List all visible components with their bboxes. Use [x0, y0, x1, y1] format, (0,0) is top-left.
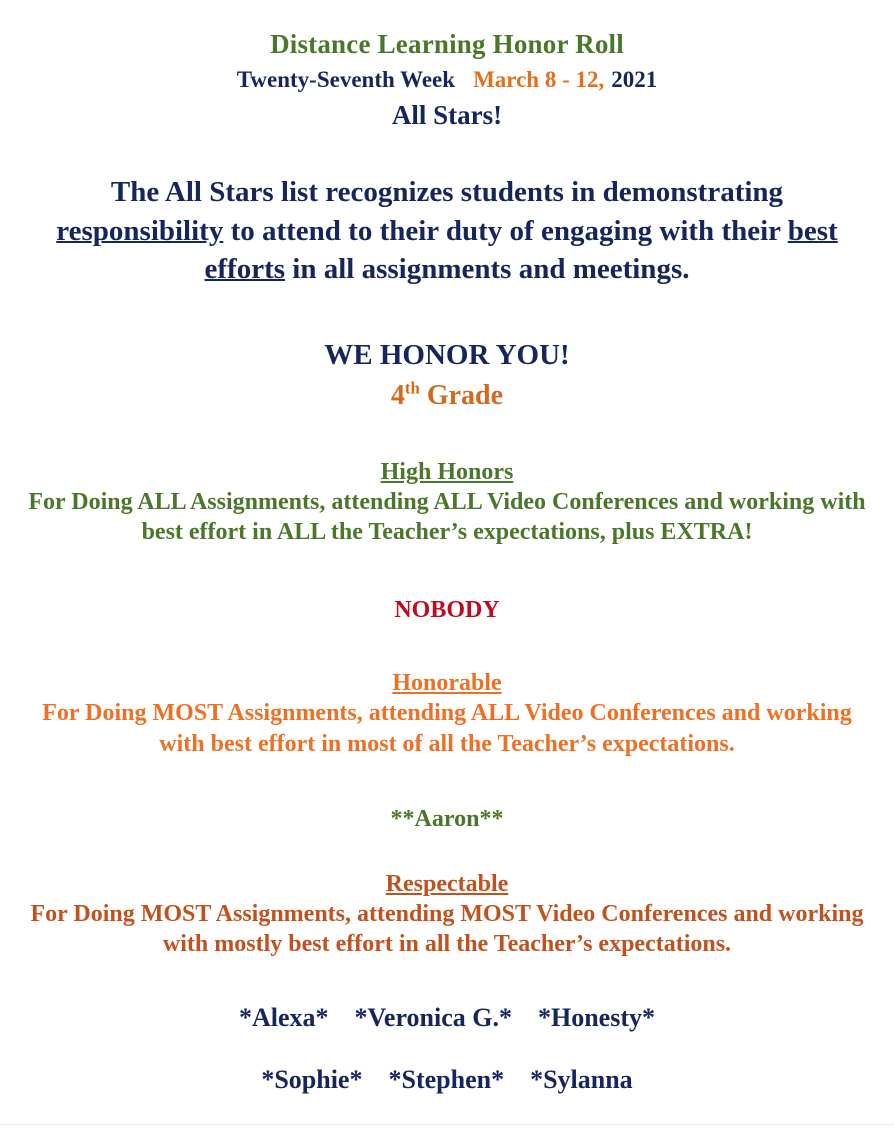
section-respectable-description: For Doing MOST Assignments, attending MO… — [22, 896, 872, 960]
grade-label: 4th Grade — [22, 370, 872, 410]
subtitle-all-stars: All Stars! — [22, 91, 872, 129]
grade-number: 4 — [391, 380, 405, 411]
week-label: Twenty-Seventh Week — [237, 67, 455, 92]
name-row: *Sophie**Stephen**Sylanna — [22, 1031, 872, 1093]
student-name: *Sylanna — [530, 1067, 633, 1093]
document-body: Distance Learning Honor Roll Twenty-Seve… — [0, 0, 894, 1093]
grade-ordinal-suffix: th — [405, 378, 420, 397]
week-and-date-line: Twenty-Seventh WeekMarch 8 - 12,2021 — [22, 58, 872, 91]
section-honorable-description: For Doing MOST Assignments, attending AL… — [22, 695, 872, 759]
high-honors-recipients: NOBODY — [22, 548, 872, 622]
honorable-recipients: **Aaron** — [22, 760, 872, 831]
student-name: *Veronica G.* — [355, 1005, 512, 1031]
student-name: *Honesty* — [538, 1005, 655, 1031]
student-name: *Sophie* — [261, 1067, 362, 1093]
section-honorable: Honorable For Doing MOST Assignments, at… — [22, 622, 872, 759]
description-paragraph: The All Stars list recognizes students i… — [22, 129, 872, 289]
page-bottom-edge — [0, 1124, 894, 1140]
section-honorable-heading: Honorable — [22, 671, 872, 695]
section-respectable-heading: Respectable — [22, 872, 872, 896]
date-range: March 8 - 12, — [473, 67, 604, 92]
student-name: *Stephen* — [388, 1067, 504, 1093]
year-label: 2021 — [611, 67, 657, 92]
description-part-3: in all assignments and meetings. — [285, 253, 689, 285]
grade-word: Grade — [420, 380, 503, 411]
name-row: *Alexa**Veronica G.**Honesty* — [22, 1005, 872, 1031]
section-respectable: Respectable For Doing MOST Assignments, … — [22, 831, 872, 960]
description-emphasis-responsibility: responsibility — [56, 215, 223, 247]
document-title: Distance Learning Honor Roll — [22, 0, 872, 58]
respectable-recipients: *Alexa**Veronica G.**Honesty* *Sophie**S… — [22, 960, 872, 1093]
section-high-honors: High Honors For Doing ALL Assignments, a… — [22, 410, 872, 548]
section-high-honors-description: For Doing ALL Assignments, attending ALL… — [22, 484, 872, 548]
description-part-2: to attend to their duty of engaging with… — [223, 215, 787, 247]
honor-roll-document: Distance Learning Honor Roll Twenty-Seve… — [0, 0, 894, 1140]
section-high-honors-heading: High Honors — [22, 460, 872, 484]
student-name: *Alexa* — [239, 1005, 329, 1031]
we-honor-you-heading: WE HONOR YOU! — [22, 289, 872, 370]
description-part-1: The All Stars list recognizes students i… — [111, 176, 783, 208]
